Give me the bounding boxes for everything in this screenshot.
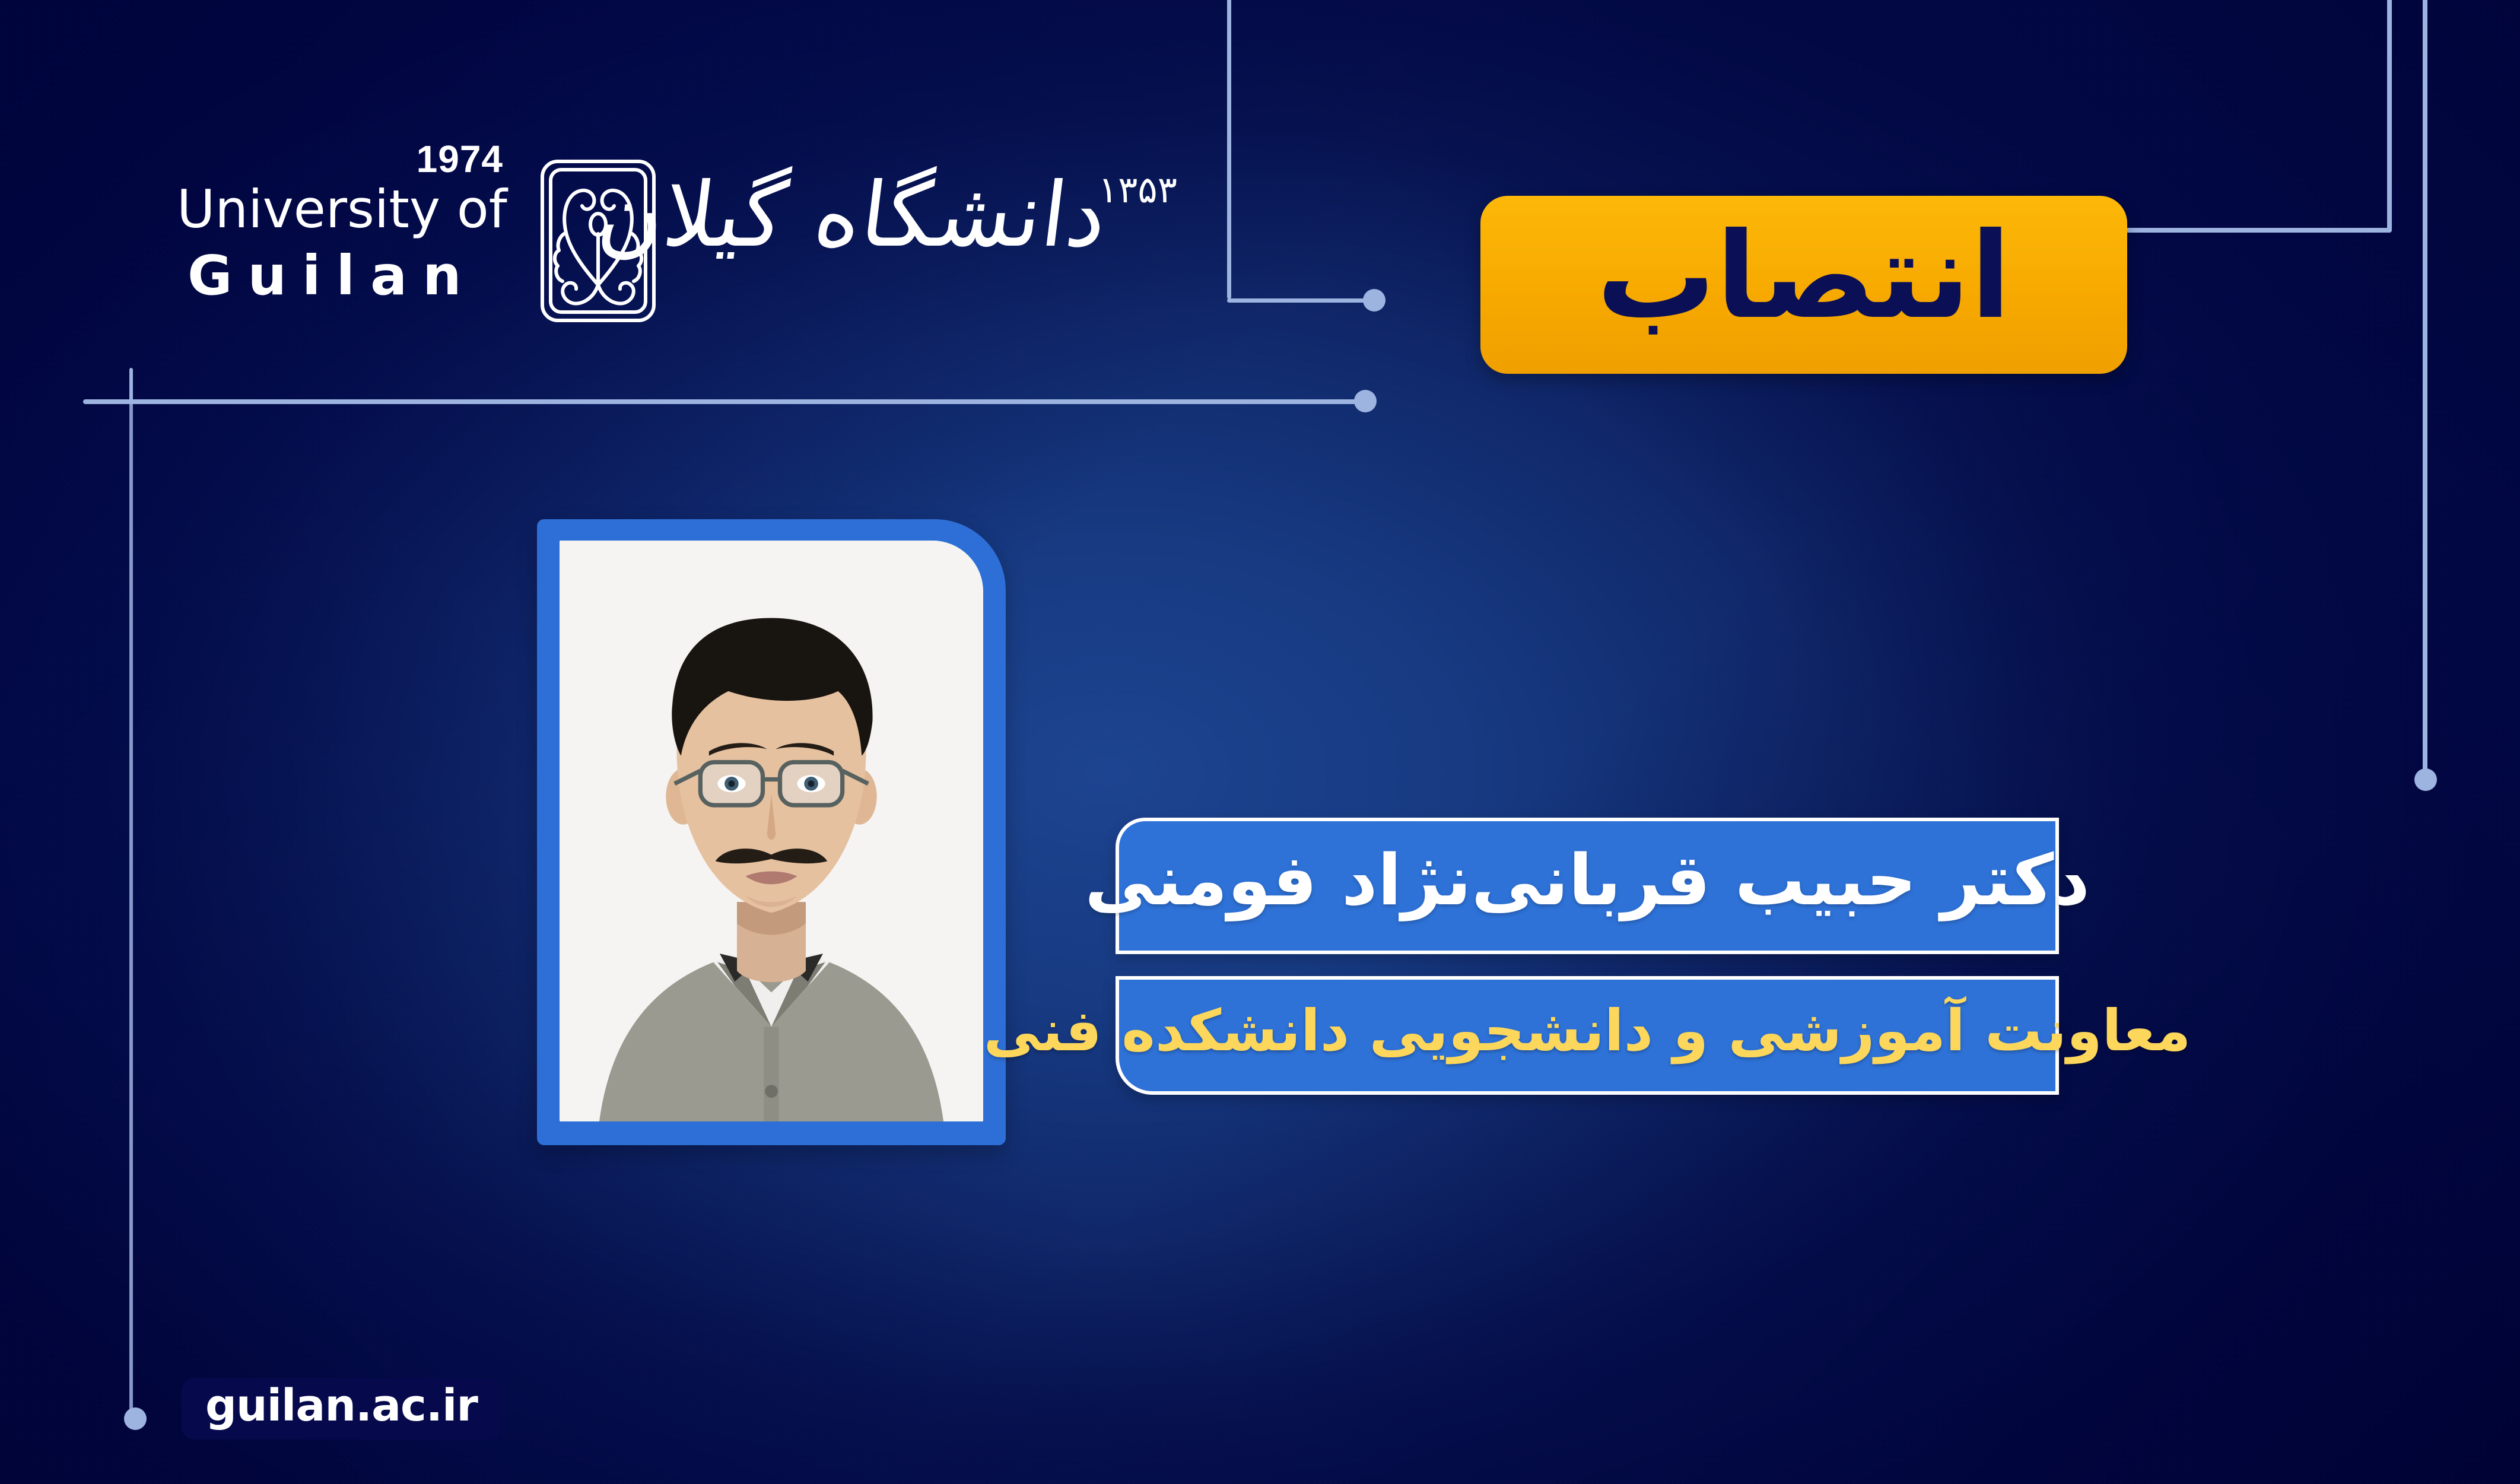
- appointment-badge: انتصاب: [1480, 196, 2127, 374]
- website-url: guilan.ac.ir: [205, 1380, 478, 1431]
- person-position: معاونت آموزشی و دانشجویی دانشکده فنی: [984, 1002, 2191, 1059]
- portrait-frame: [537, 519, 1006, 1145]
- deco-dot-vertical-right-outer-end: [2414, 768, 2437, 791]
- logo-university-word: University of: [177, 179, 507, 240]
- deco-line-vertical-right-outer: [2423, 0, 2427, 777]
- appointment-poster: 1974 University of Guilan: [0, 0, 2520, 1484]
- website-badge[interactable]: guilan.ac.ir: [182, 1378, 501, 1439]
- university-logo-persian: ۱۳۵۳ دانشگاه گیلان: [678, 151, 1164, 341]
- university-logo: 1974 University of Guilan: [172, 128, 1234, 365]
- deco-dot-horizontal-long-end: [1354, 390, 1377, 412]
- deco-line-vertical-left: [129, 369, 133, 1413]
- deco-line-bracket-left: [129, 368, 133, 403]
- deco-line-horizontal-right-inner: [2121, 228, 2392, 233]
- deco-dot-vertical-left-end: [124, 1407, 147, 1430]
- person-position-banner: معاونت آموزشی و دانشجویی دانشکده فنی: [1116, 976, 2059, 1095]
- deco-line-vertical-right-inner: [2387, 0, 2392, 231]
- logo-name-persian: دانشگاه گیلان: [590, 149, 1114, 282]
- appointment-badge-label: انتصاب: [1597, 217, 2011, 336]
- logo-guilan-word: Guilan: [188, 244, 477, 307]
- portrait-photo: [560, 541, 983, 1121]
- deco-dot-top-center: [1363, 289, 1385, 312]
- deco-line-horizontal-top-center: [1227, 298, 1367, 303]
- logo-year-english: 1974: [417, 137, 503, 181]
- university-logo-english: 1974 University of Guilan: [172, 157, 516, 335]
- person-name: دکتر حبیب قربانی‌نژاد فومنی: [1085, 845, 2090, 915]
- person-name-banner: دکتر حبیب قربانی‌نژاد فومنی: [1116, 818, 2059, 954]
- deco-line-horizontal-long: [83, 399, 1365, 404]
